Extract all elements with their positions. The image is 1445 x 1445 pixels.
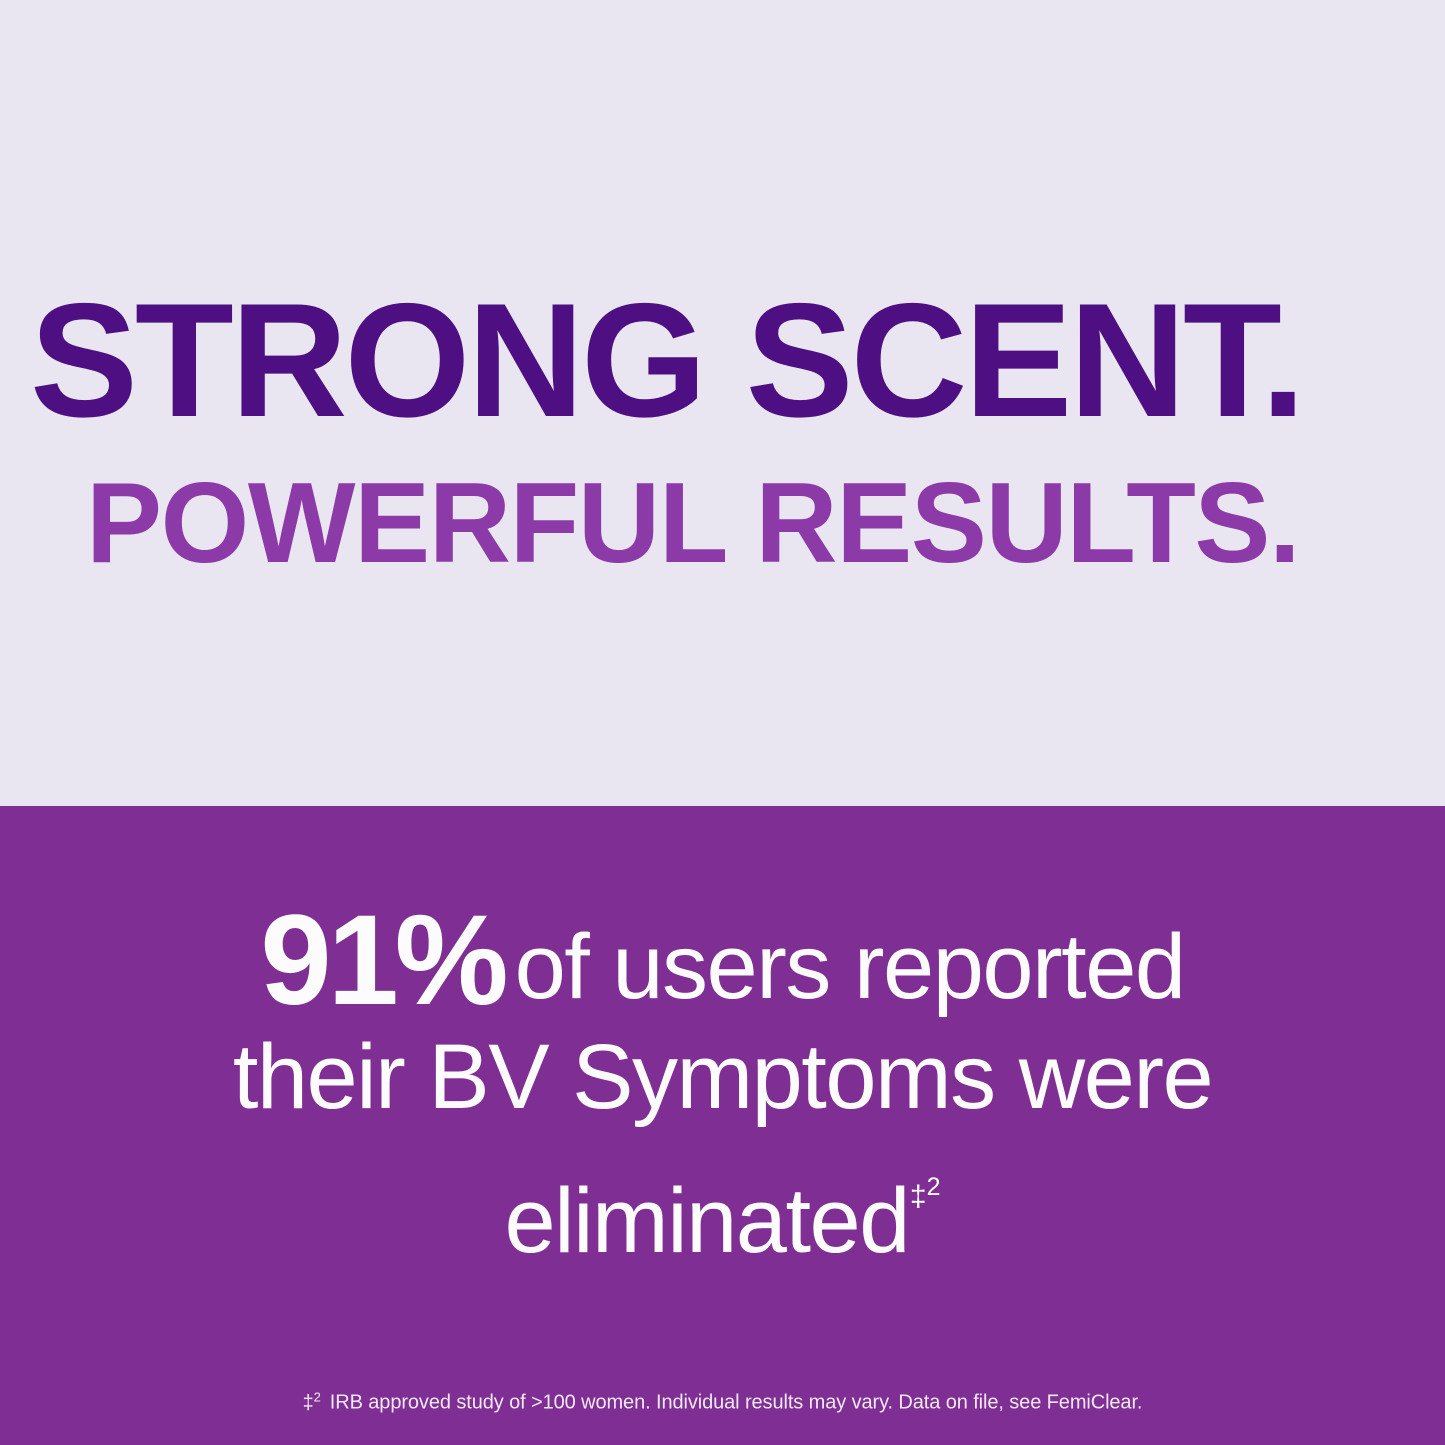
stat-claim-line-1: 91%of users reported xyxy=(0,906,1445,1022)
stat-claim-line-3: eliminated‡2 xyxy=(0,1132,1445,1276)
headline-primary: STRONG SCENT. xyxy=(0,286,1445,435)
stat-claim-line-2: their BV Symptoms were xyxy=(0,1022,1445,1132)
stat-panel: 91%of users reported their BV Symptoms w… xyxy=(0,806,1445,1445)
headline-panel: STRONG SCENT. POWERFUL RESULTS. xyxy=(0,0,1445,806)
product-claim-card: STRONG SCENT. POWERFUL RESULTS. 91%of us… xyxy=(0,0,1445,1445)
stat-claim-block: 91%of users reported their BV Symptoms w… xyxy=(0,906,1445,1276)
footnote-marker: ‡2 xyxy=(303,1392,321,1414)
headline-stack: STRONG SCENT. POWERFUL RESULTS. xyxy=(0,286,1445,581)
footnote-reference-number: 2 xyxy=(927,1173,941,1201)
double-dagger-icon: ‡ xyxy=(303,1392,314,1414)
stat-claim-line-3-text: eliminated xyxy=(505,1170,909,1272)
stat-claim-line-1-text: of users reported xyxy=(515,916,1185,1018)
footnote-text: IRB approved study of >100 women. Indivi… xyxy=(330,1392,1143,1414)
headline-secondary: POWERFUL RESULTS. xyxy=(0,467,1445,581)
footnote-reference-marker: ‡2 xyxy=(910,1180,941,1213)
footnote-marker-number: 2 xyxy=(314,1389,321,1404)
footnote-disclaimer: ‡2IRB approved study of >100 women. Indi… xyxy=(0,1383,1445,1417)
stat-percentage: 91% xyxy=(260,889,504,1032)
double-dagger-icon: ‡ xyxy=(910,1180,927,1213)
